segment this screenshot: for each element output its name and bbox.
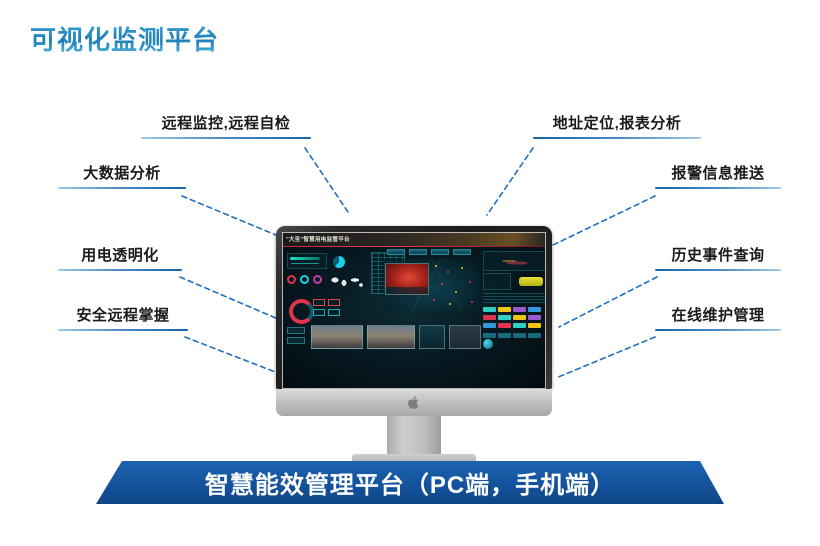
camera-feed-row	[311, 325, 481, 349]
callout-underline	[58, 187, 186, 189]
bottom-banner: 智慧能效管理平台（PC端，手机端）	[96, 461, 724, 504]
map-marker	[471, 301, 473, 303]
map-marker	[441, 283, 443, 285]
callout-label: 报警信息推送	[655, 164, 781, 184]
callout-label: 安全远程掌握	[58, 306, 188, 326]
chip	[498, 315, 511, 320]
widget-globe-icon	[483, 339, 493, 349]
map-marker	[455, 291, 457, 293]
callout-underline	[655, 269, 781, 271]
leader-left-4	[185, 337, 283, 375]
callout-underline	[58, 329, 188, 331]
callout-left-big-data[interactable]: 大数据分析	[58, 164, 186, 189]
widget-status-tile	[328, 309, 340, 316]
callout-label: 在线维护管理	[655, 306, 781, 326]
map-marker	[433, 299, 435, 301]
map-marker	[447, 271, 449, 273]
dashboard-tab[interactable]	[387, 249, 405, 255]
stack-item	[287, 327, 305, 334]
callout-underline	[141, 137, 311, 139]
callout-underline	[655, 187, 781, 189]
gauge-ring	[313, 275, 322, 284]
map-marker	[461, 267, 463, 269]
widget-bar-chart	[287, 253, 327, 269]
gauge-ring	[300, 275, 309, 284]
chip	[483, 323, 496, 328]
callout-label: 用电透明化	[58, 246, 182, 266]
callout-label: 地址定位,报表分析	[533, 114, 701, 134]
chip	[498, 323, 511, 328]
monitor-chin	[276, 389, 552, 416]
widget-table-list	[483, 293, 546, 303]
chip	[513, 323, 526, 328]
callout-underline	[533, 137, 701, 139]
callout-right-online-maintenance[interactable]: 在线维护管理	[655, 306, 781, 331]
widget-line-chart	[483, 251, 546, 271]
widget-gauge-rings	[287, 273, 327, 291]
callout-left-safe-remote-control[interactable]: 安全远程掌握	[58, 306, 188, 331]
widget-status-tile	[328, 299, 340, 306]
dashboard-tab[interactable]	[409, 249, 427, 255]
callout-label: 大数据分析	[58, 164, 186, 184]
callout-underline	[58, 269, 182, 271]
chip	[483, 307, 496, 312]
dashboard-tab-bar[interactable]	[387, 249, 473, 256]
widget-kpi-panel	[483, 273, 511, 290]
widget-video-preview[interactable]	[385, 263, 429, 295]
dashboard-tab[interactable]	[431, 249, 449, 255]
callout-underline	[655, 329, 781, 331]
chip	[483, 333, 496, 338]
chip	[528, 315, 541, 320]
callout-right-history-query[interactable]: 历史事件查询	[655, 246, 781, 271]
leader-right-4	[556, 337, 655, 378]
callout-label: 远程监控,远程自检	[141, 114, 311, 134]
widget-pie-chart	[331, 253, 349, 270]
widget-status-tile	[313, 299, 325, 306]
monitor-screen[interactable]: "大圣"智慧用电监管平台	[282, 232, 546, 389]
dashboard-body	[283, 247, 545, 388]
widget-donut-chart	[287, 297, 309, 319]
callout-left-power-transparency[interactable]: 用电透明化	[58, 246, 182, 271]
map-marker	[449, 303, 451, 305]
dashboard-tab[interactable]	[453, 249, 471, 255]
camera-feed[interactable]	[367, 325, 415, 349]
dashboard-title: "大圣"智慧用电监管平台	[286, 235, 350, 243]
map-marker	[469, 281, 471, 283]
chip	[483, 315, 496, 320]
chip	[528, 323, 541, 328]
apple-logo-icon	[408, 395, 421, 410]
chip	[498, 333, 511, 338]
camera-feed[interactable]	[311, 325, 363, 349]
callout-left-remote-monitor[interactable]: 远程监控,远程自检	[141, 114, 311, 139]
leader-right-3	[559, 277, 657, 327]
callout-right-address-report[interactable]: 地址定位,报表分析	[533, 114, 701, 139]
banner-text: 智慧能效管理平台（PC端，手机端）	[205, 465, 615, 500]
stack-item	[287, 337, 305, 344]
dashboard-header: "大圣"智慧用电监管平台	[283, 233, 545, 246]
leader-left-1	[305, 148, 350, 215]
leader-right-1	[487, 148, 533, 215]
chip	[513, 333, 526, 338]
imac-monitor: "大圣"智慧用电监管平台	[276, 226, 552, 452]
chip	[513, 315, 526, 320]
gauge-ring	[287, 275, 296, 284]
camera-feed[interactable]	[449, 325, 481, 349]
chip	[528, 333, 541, 338]
chip	[498, 307, 511, 312]
widget-side-stack	[287, 327, 307, 349]
chip	[528, 307, 541, 312]
page-title: 可视化监测平台	[30, 20, 219, 57]
map-marker	[435, 265, 437, 267]
leader-right-2	[553, 196, 655, 245]
monitor-stand-neck	[387, 416, 441, 454]
widget-vehicle-icon	[515, 273, 546, 290]
widget-status-tile	[313, 309, 325, 316]
callout-label: 历史事件查询	[655, 246, 781, 266]
camera-feed[interactable]	[419, 325, 445, 349]
monitor-bezel: "大圣"智慧用电监管平台	[276, 226, 552, 389]
chip	[513, 307, 526, 312]
widget-world-map	[329, 273, 367, 291]
callout-right-alarm-push[interactable]: 报警信息推送	[655, 164, 781, 189]
